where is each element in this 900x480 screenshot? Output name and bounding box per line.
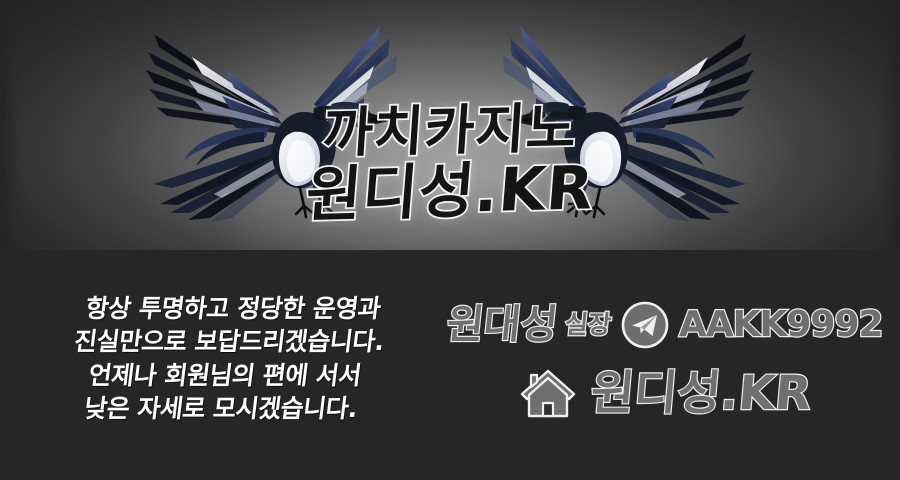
slogan-line-3: 언제나 회원님의 편에 서서 <box>18 359 432 392</box>
slogan-line-4: 낮은 자세로 모시겠습니다. <box>14 392 428 425</box>
home-icon[interactable] <box>519 366 577 421</box>
slogan-line-2: 진실만으로 보답드리겠습니다. <box>22 325 436 358</box>
site-domain[interactable]: 원디성.KR <box>589 369 814 418</box>
manager-name: 원대성 <box>445 304 560 346</box>
brand-title: 까치카지노 원디성.KR <box>0 104 900 222</box>
contact-block: 원대성 실장 AAKK9992 원디성.KR <box>445 300 885 421</box>
telegram-icon[interactable] <box>620 300 670 350</box>
contact-row-domain: 원디성.KR <box>445 366 885 421</box>
slogan-line-1: 항상 투명하고 정당한 운영과 <box>26 292 440 325</box>
contact-row-telegram: 원대성 실장 AAKK9992 <box>445 300 885 350</box>
casino-promo-banner: 까치카지노 원디성.KR 항상 투명하고 정당한 운영과 진실만으로 보답드리겠… <box>0 0 900 480</box>
telegram-handle[interactable]: AAKK9992 <box>679 306 883 344</box>
manager-role: 실장 <box>563 312 612 338</box>
slogan-text-block: 항상 투명하고 정당한 운영과 진실만으로 보답드리겠습니다. 언제나 회원님의… <box>14 292 440 425</box>
